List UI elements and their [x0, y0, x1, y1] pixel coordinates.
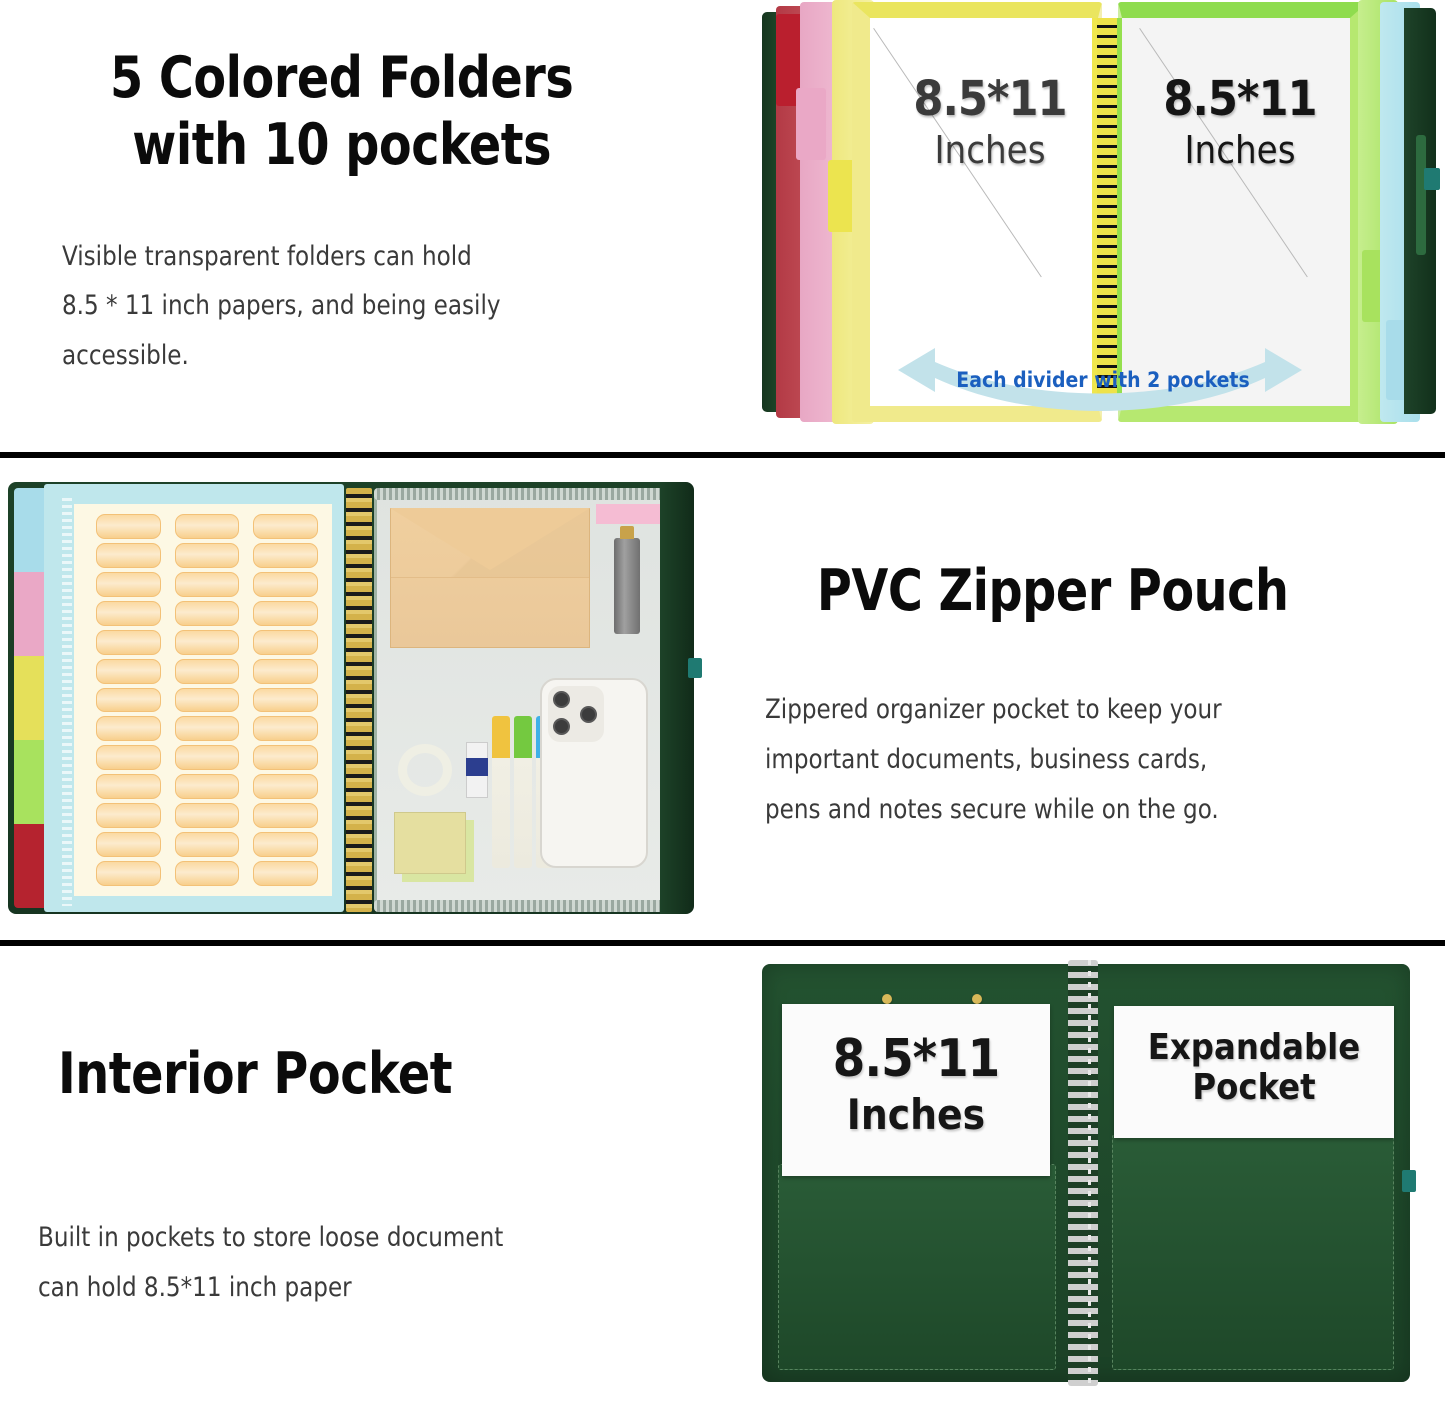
elastic-clip — [688, 658, 702, 678]
left-size-number: 8.5*11 — [890, 75, 1090, 123]
green-folder-illustration: 8.5*11 Inches Expandable Pocket — [762, 964, 1410, 1382]
sticker — [253, 716, 318, 741]
text-column-colored-folders: 5 Colored Folders with 10 pockets Visibl… — [0, 0, 722, 452]
sticker — [175, 745, 240, 770]
sticker — [253, 803, 318, 828]
left-size-unit: Inches — [890, 131, 1090, 169]
sticker — [253, 572, 318, 597]
sticker — [175, 803, 240, 828]
sticker — [175, 774, 240, 799]
interior-pocket-left — [778, 1164, 1056, 1370]
sticker — [96, 543, 161, 568]
divider-tab-pink — [796, 88, 826, 160]
sticker — [96, 630, 161, 655]
sticker — [96, 745, 161, 770]
pen-loop — [1416, 135, 1426, 255]
camera-lens — [553, 691, 570, 708]
marker-green-cap — [514, 716, 532, 758]
sticker — [96, 514, 161, 539]
right-size-unit: Inches — [1140, 131, 1340, 169]
sticker — [96, 716, 161, 741]
pink-note-card — [596, 504, 660, 524]
sticker — [96, 572, 161, 597]
sticker — [175, 514, 240, 539]
sticky-note-yellow — [394, 812, 466, 874]
paper-size-unit: Inches — [782, 1093, 1050, 1137]
marker-yellow-cap — [492, 716, 510, 758]
zipper-track-bottom — [374, 900, 664, 912]
envelope-flap — [390, 508, 590, 570]
sticker-grid — [96, 514, 318, 886]
sticker — [175, 543, 240, 568]
text-column-interior-pocket: Interior Pocket Built in pockets to stor… — [0, 946, 722, 1401]
sticker — [96, 774, 161, 799]
tab-blue — [14, 488, 48, 572]
tab-pink — [14, 572, 48, 656]
expandable-pocket-text: Expandable Pocket — [1114, 1028, 1394, 1109]
paper-left: 8.5*11 Inches — [782, 1004, 1050, 1176]
image-green-folder-interior-pockets: 8.5*11 Inches Expandable Pocket — [722, 946, 1445, 1401]
label-left-page-size: 8.5*11 Inches — [890, 75, 1090, 169]
sticker — [175, 688, 240, 713]
paper-right: Expandable Pocket — [1114, 1006, 1394, 1138]
arrow-caption-each-divider: Each divider with 2 pockets — [908, 368, 1298, 392]
binder-illustration: 8.5*11 Inches 8.5*11 Inches Each divider… — [740, 0, 1430, 425]
tab-red — [14, 824, 48, 908]
left-page-sticker-sheet — [44, 484, 344, 912]
sticker — [96, 659, 161, 684]
image-binder-open-with-zipper-pouch — [0, 458, 723, 940]
tab-yellow — [14, 656, 48, 740]
sticker — [253, 861, 318, 886]
sticker — [175, 861, 240, 886]
body-colored-folders: Visible transparent folders can hold 8.5… — [62, 232, 670, 382]
elastic-clip — [1424, 168, 1440, 190]
binder-zipper-illustration — [0, 472, 700, 927]
sticker — [96, 803, 161, 828]
sticker — [175, 716, 240, 741]
heading-colored-folders: 5 Colored Folders with 10 pockets — [58, 45, 625, 180]
sticker — [175, 601, 240, 626]
rivet — [882, 994, 892, 1004]
right-size-number: 8.5*11 — [1140, 75, 1340, 123]
expandable-pocket-right — [1112, 1134, 1394, 1370]
sticker — [253, 774, 318, 799]
page-ruler-edge — [62, 498, 72, 906]
tab-green — [14, 740, 48, 824]
label-paper-size: 8.5*11 Inches — [782, 1004, 1050, 1137]
section-pvc-zipper-pouch: PVC Zipper Pouch Zippered organizer pock… — [0, 458, 1445, 940]
sticker — [253, 514, 318, 539]
elastic-clip — [1402, 1170, 1416, 1192]
eraser-band — [466, 758, 488, 776]
sticker — [253, 543, 318, 568]
camera-lens — [580, 706, 597, 723]
zipper-track-top — [374, 488, 664, 500]
sticker — [96, 832, 161, 857]
sticker — [253, 688, 318, 713]
section-interior-pocket: Interior Pocket Built in pockets to stor… — [0, 946, 1445, 1401]
sticker — [175, 572, 240, 597]
sticker — [175, 630, 240, 655]
divider-tab-strip — [14, 488, 48, 908]
heading-pvc-zipper-pouch: PVC Zipper Pouch — [723, 558, 1395, 625]
body-interior-pocket: Built in pockets to store loose document… — [38, 1213, 675, 1313]
camera-lens — [553, 718, 570, 735]
sticker — [175, 659, 240, 684]
sticker — [253, 745, 318, 770]
label-expandable-pocket: Expandable Pocket — [1114, 1006, 1394, 1109]
text-column-pvc-zipper-pouch: PVC Zipper Pouch Zippered organizer pock… — [723, 458, 1445, 940]
label-right-page-size: 8.5*11 Inches — [1140, 75, 1340, 169]
sticker — [253, 601, 318, 626]
sticker — [96, 601, 161, 626]
section-colored-folders: 5 Colored Folders with 10 pockets Visibl… — [0, 0, 1445, 452]
paper-size-number: 8.5*11 — [782, 1032, 1050, 1087]
sticker — [96, 861, 161, 886]
spiral-binding — [1068, 960, 1098, 1386]
sticker — [253, 832, 318, 857]
rivet — [972, 994, 982, 1004]
heading-interior-pocket: Interior Pocket — [58, 1041, 635, 1108]
spiral-binding — [346, 488, 372, 912]
tape-roll — [398, 744, 452, 796]
sticker — [253, 659, 318, 684]
sticker — [96, 688, 161, 713]
sticker — [175, 832, 240, 857]
sticker — [253, 630, 318, 655]
body-pvc-zipper-pouch: Zippered organizer pocket to keep your i… — [765, 685, 1402, 835]
image-open-binder-with-colored-dividers: 8.5*11 Inches 8.5*11 Inches Each divider… — [722, 0, 1445, 452]
usb-drive — [614, 538, 640, 634]
binder-right-cover — [660, 482, 694, 914]
